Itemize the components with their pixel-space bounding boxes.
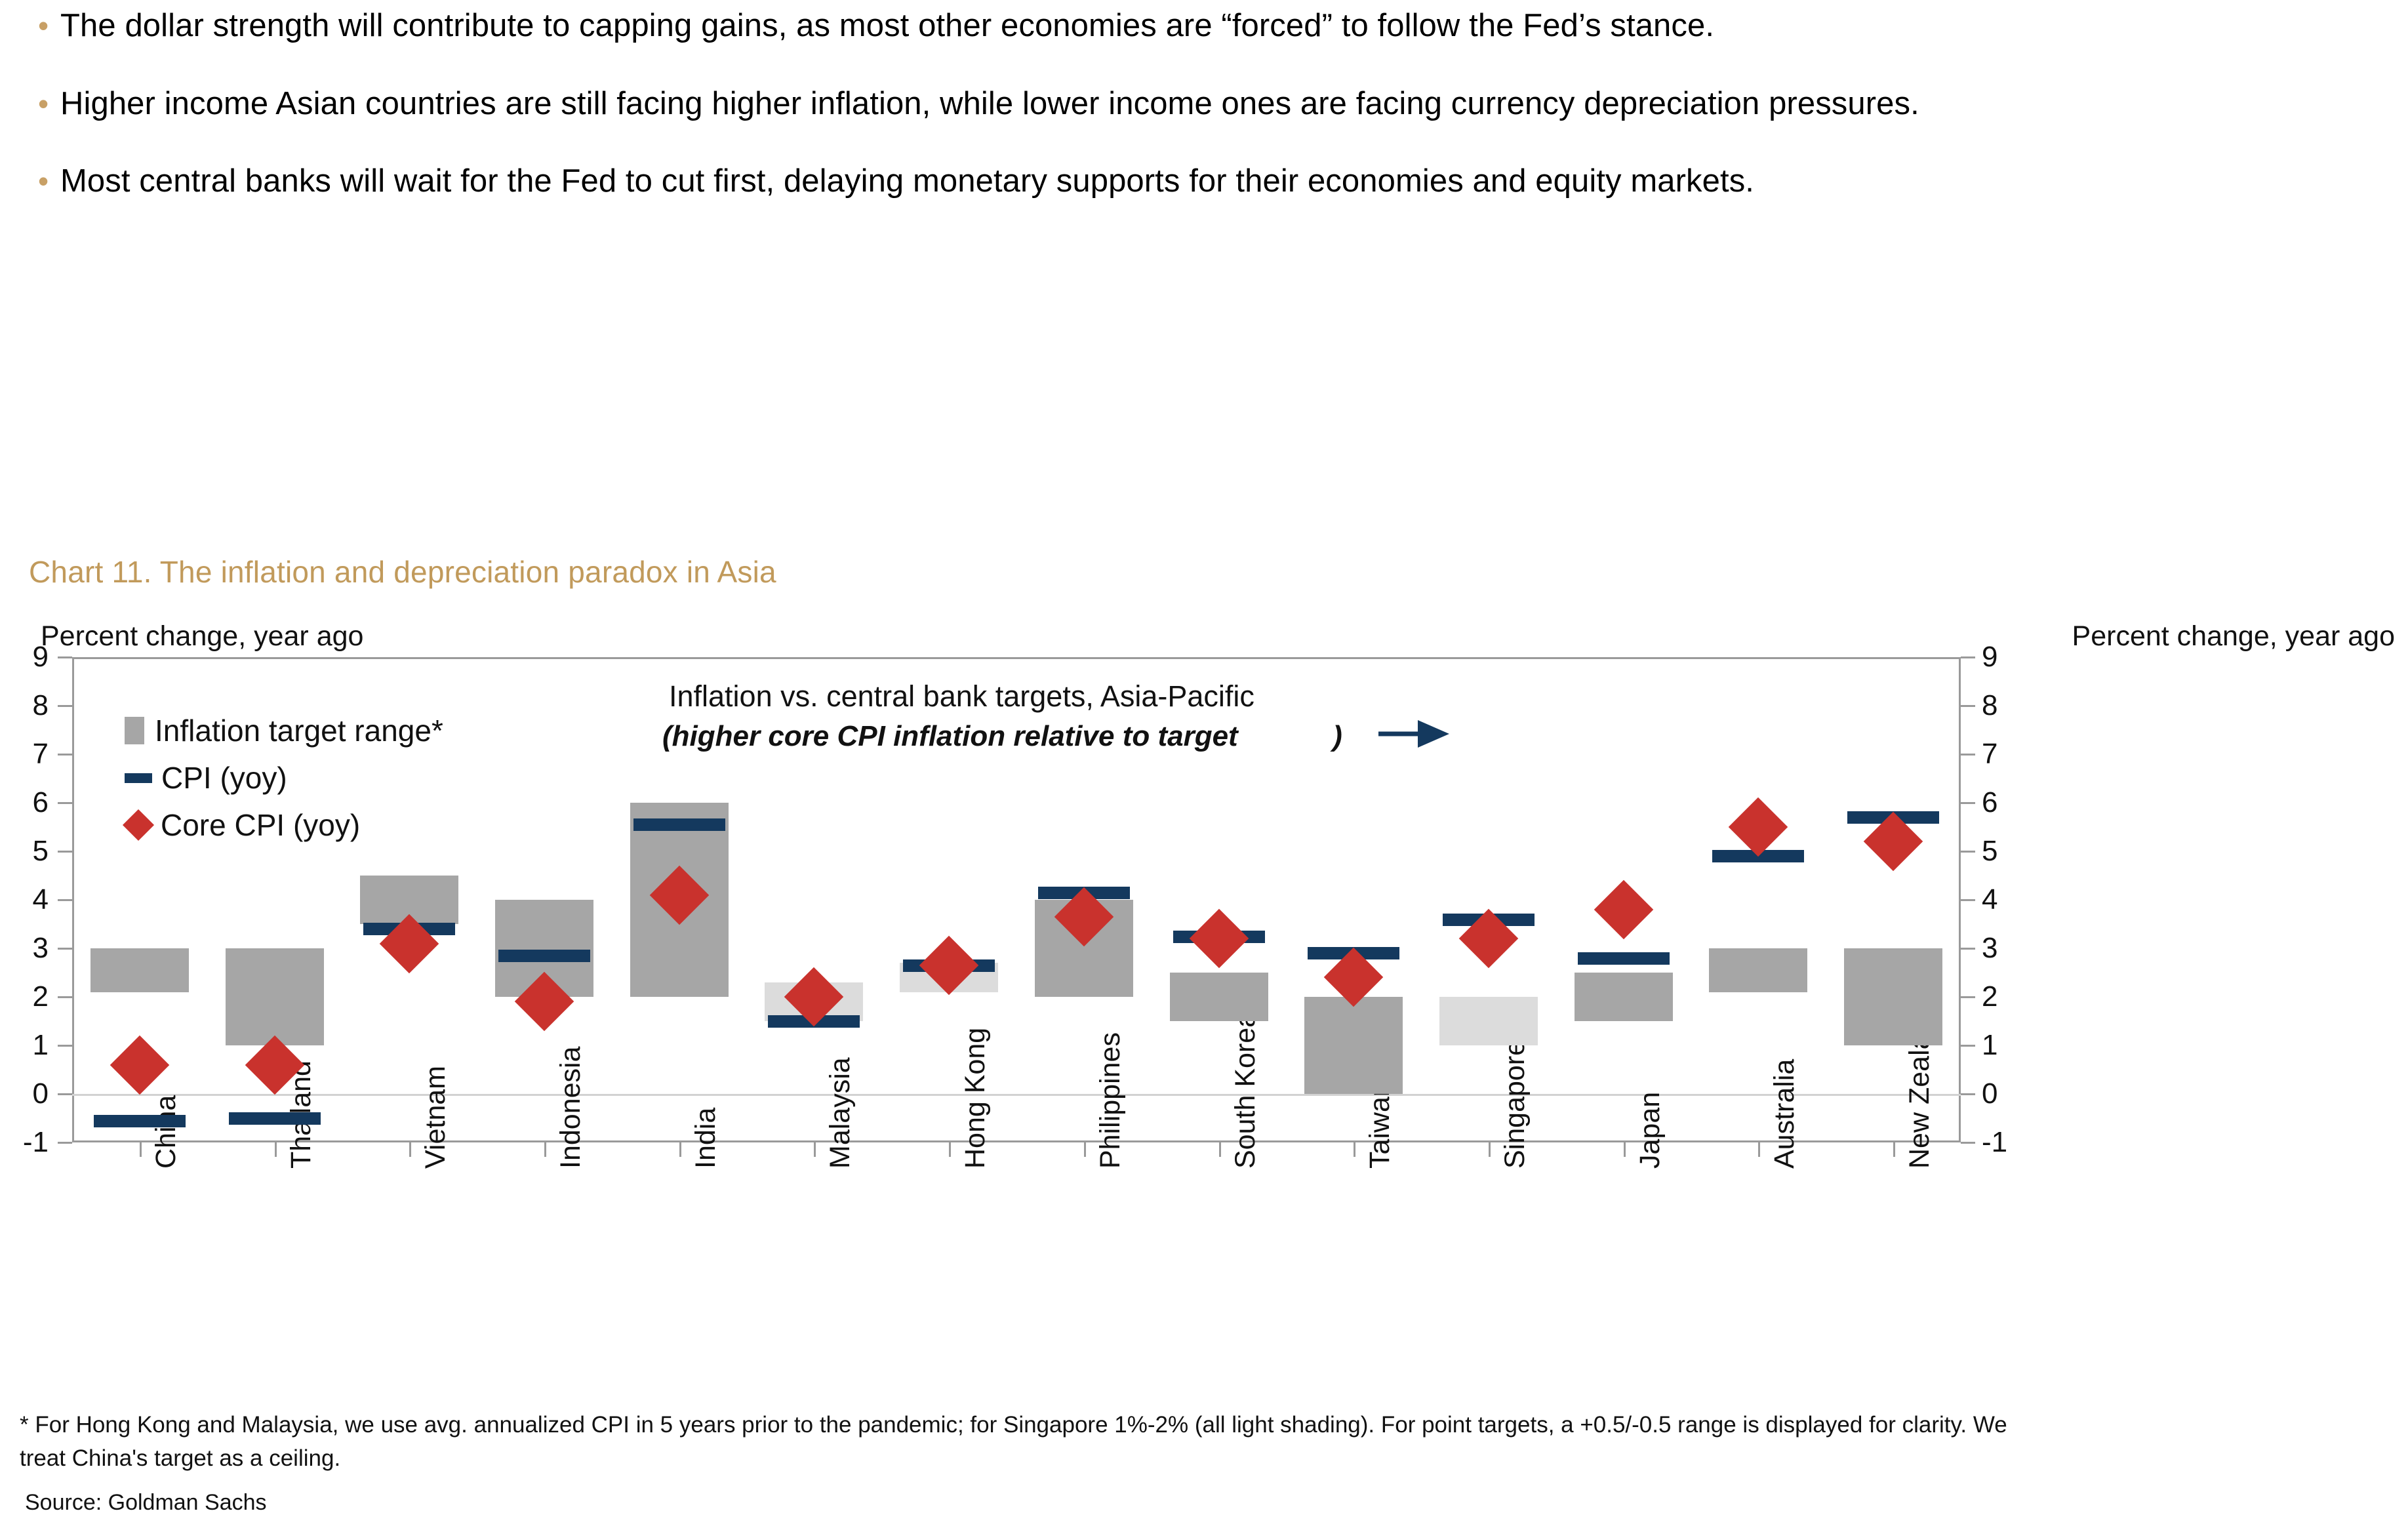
target-range-box [1709,948,1807,992]
x-axis-tick-mark [1219,1142,1221,1157]
axis-tick-mark [58,754,72,756]
x-axis-tick-mark [814,1142,816,1157]
target-range-box [1439,997,1538,1045]
axis-tick-mark [1961,1142,1975,1144]
x-axis-tick-mark [140,1142,142,1157]
axis-tick-mark [1961,899,1975,901]
x-axis-tick-mark [1354,1142,1355,1157]
axis-tick-mark [58,1093,72,1095]
list-item: • Most central banks will wait for the F… [26,161,2387,202]
chart-inner-subtitle: (higher core CPI inflation relative to t… [662,720,1342,753]
bullet-dot-icon: • [26,5,60,46]
core-cpi-diamond-swatch-icon [123,809,154,841]
target-range-box [1170,973,1268,1021]
chart-column [1556,649,1691,1142]
cpi-line-swatch-icon [125,773,152,783]
bullet-dot-icon: • [26,83,60,124]
axis-tick-mark [58,705,72,707]
axis-tick-mark [58,1045,72,1047]
axis-tick-mark [1961,705,1975,707]
x-axis-tick-mark [679,1142,681,1157]
list-item: • Higher income Asian countries are stil… [26,83,2387,125]
axis-tick-mark [58,802,72,804]
x-axis-tick-mark [275,1142,277,1157]
chart-column [1826,649,1961,1142]
bullet-text: Higher income Asian countries are still … [60,83,2336,125]
axis-tick-mark [1961,1093,1975,1095]
cpi-marker [1578,952,1670,965]
chart-inner-subtitle-close: ) [1333,720,1342,752]
legend-item-target-range: Inflation target range* [125,707,443,754]
bullet-text: Most central banks will wait for the Fed… [60,161,2336,202]
axis-tick-mark [1961,1045,1975,1047]
chart-inner-title: Inflation vs. central bank targets, Asia… [669,679,1254,714]
axis-tick-mark [58,1142,72,1144]
bullet-text: The dollar strength will contribute to c… [60,5,2336,47]
legend-item-cpi: CPI (yoy) [125,754,443,801]
x-axis-tick-mark [409,1142,411,1157]
chart-column [477,649,612,1142]
list-item: • The dollar strength will contribute to… [26,5,2387,47]
chart-legend: Inflation target range* CPI (yoy) Core C… [125,707,443,849]
cpi-marker [633,818,725,831]
legend-label: CPI (yoy) [161,760,287,796]
x-axis-tick-mark [544,1142,546,1157]
cpi-marker [498,950,590,962]
target-range-box [1304,997,1403,1094]
legend-item-core-cpi: Core CPI (yoy) [125,801,443,849]
axis-tick-mark [58,996,72,998]
y-axis-caption-right: Percent change, year ago [2072,620,2395,653]
y-axis-caption-left: Percent change, year ago [41,620,363,653]
right-arrow-icon [1377,716,1462,752]
target-range-swatch-icon [125,717,144,744]
chart-footnote: * For Hong Kong and Malaysia, we use avg… [20,1409,2020,1476]
bullet-dot-icon: • [26,161,60,201]
cpi-marker [94,1115,186,1127]
axis-tick-mark [58,851,72,853]
axis-tick-mark [1961,851,1975,853]
axis-tick-mark [58,656,72,658]
cpi-marker [229,1112,321,1125]
bullet-list: • The dollar strength will contribute to… [26,5,2387,239]
axis-tick-mark [58,899,72,901]
axis-tick-mark [58,948,72,950]
core-cpi-marker [1729,797,1788,857]
legend-label: Inflation target range* [155,713,443,748]
x-axis-tick-mark [949,1142,951,1157]
target-range-box [90,948,189,992]
axis-tick-mark [1961,996,1975,998]
chart-inner-subtitle-text: (higher core CPI inflation relative to t… [662,720,1238,752]
core-cpi-marker [1189,909,1249,969]
x-axis-tick-mark [1758,1142,1760,1157]
target-range-box [1844,948,1942,1045]
target-range-box [1575,973,1673,1021]
axis-tick-mark [1961,656,1975,658]
chart-source: Source: Goldman Sachs [25,1490,267,1516]
target-range-box [226,948,324,1045]
core-cpi-marker [1594,880,1653,940]
legend-label: Core CPI (yoy) [161,807,360,843]
x-axis-tick-mark [1084,1142,1086,1157]
axis-tick-mark [1961,948,1975,950]
chart-title: Chart 11. The inflation and depreciation… [29,554,776,590]
chart-column [1691,649,1826,1142]
axis-tick-mark [1961,754,1975,756]
x-axis-tick-mark [1893,1142,1895,1157]
x-axis-tick-mark [1489,1142,1491,1157]
core-cpi-marker [110,1035,170,1095]
axis-tick-mark [1961,802,1975,804]
x-axis-tick-mark [1624,1142,1626,1157]
